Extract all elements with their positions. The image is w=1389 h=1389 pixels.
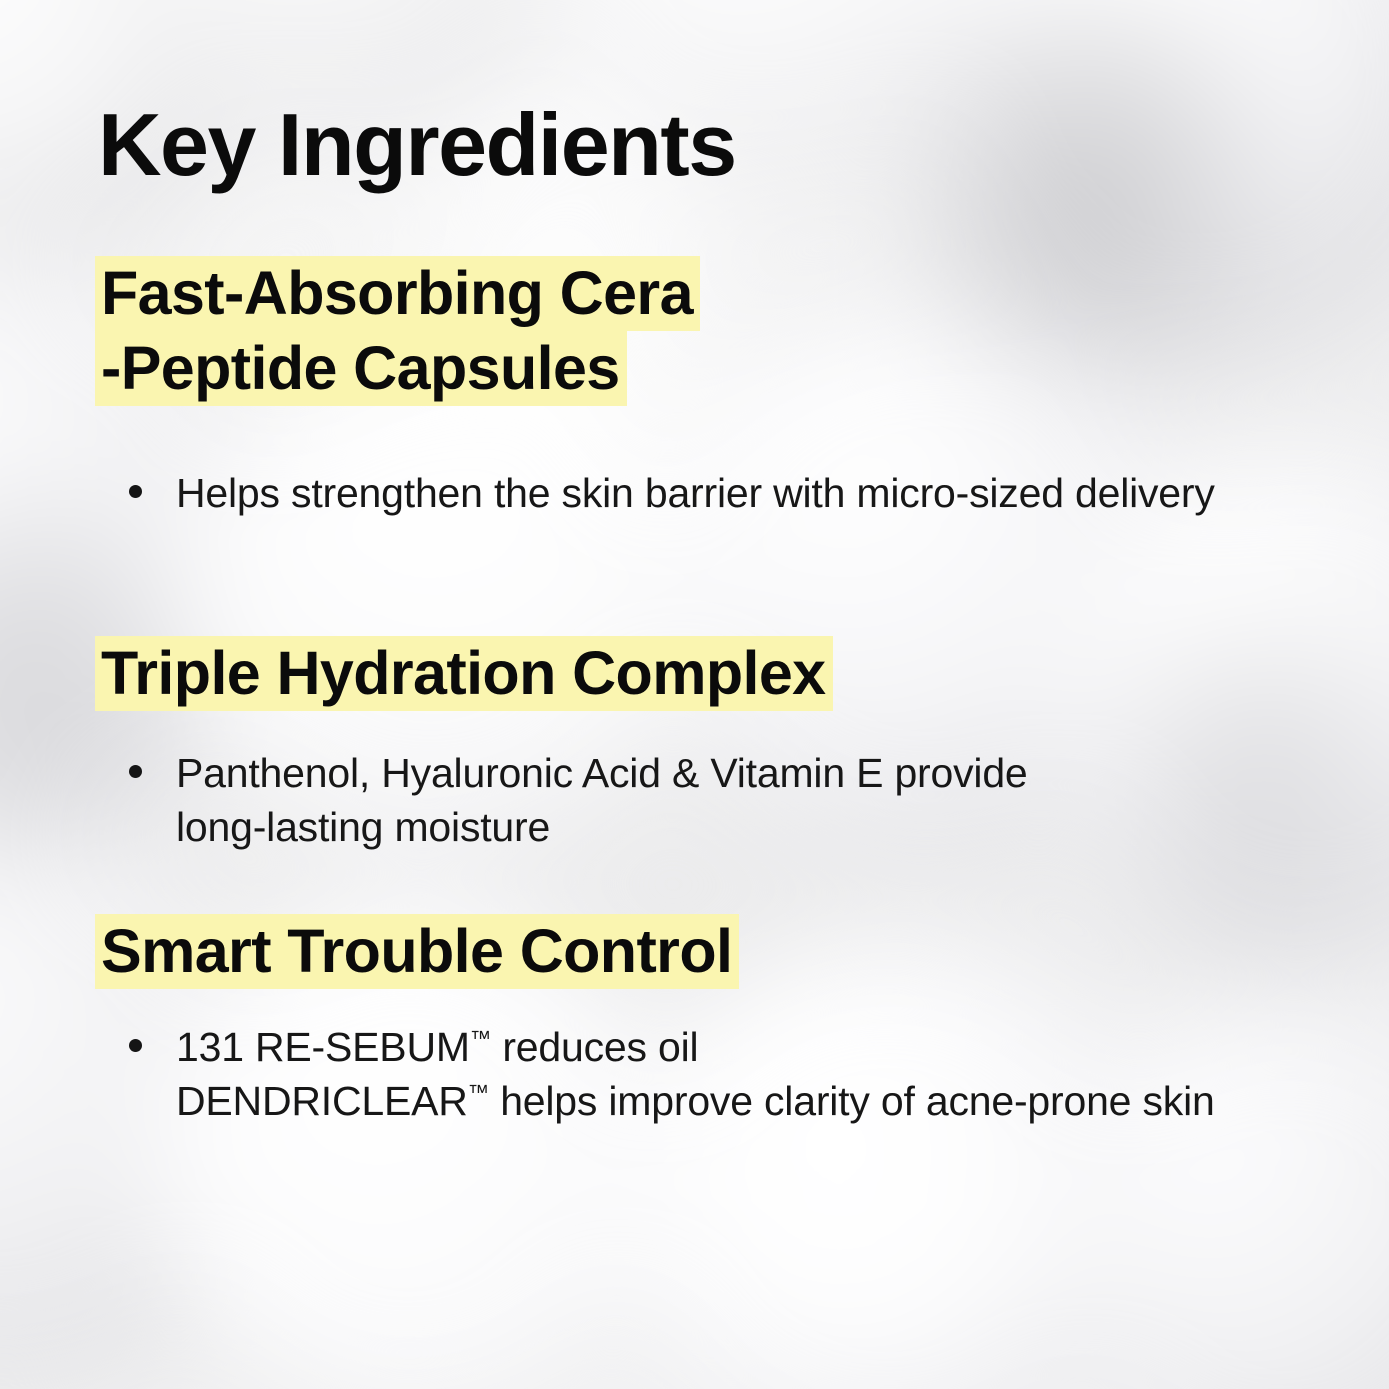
- page-title: Key Ingredients: [98, 101, 736, 189]
- list-item: 131 RE-SEBUM™ reduces oilDENDRICLEAR™ he…: [127, 1020, 1316, 1128]
- section-2-heading: Triple Hydration Complex: [0, 636, 1389, 711]
- ingredient-info-card: Key Ingredients Fast-Absorbing Cera -Pep…: [0, 0, 1389, 1389]
- ingredient-section-2-body: Panthenol, Hyaluronic Acid & Vitamin E p…: [0, 746, 1389, 854]
- list-item-text: 131 RE-SEBUM™ reduces oilDENDRICLEAR™ he…: [176, 1024, 1215, 1124]
- ingredient-section-1-body: Helps strengthen the skin barrier with m…: [0, 466, 1389, 520]
- ingredient-section-3-body: 131 RE-SEBUM™ reduces oilDENDRICLEAR™ he…: [0, 1020, 1389, 1128]
- section-heading-line: -Peptide Capsules: [95, 331, 627, 406]
- ingredient-section-3: Smart Trouble Control: [0, 914, 1389, 989]
- bullet-icon: [129, 765, 142, 778]
- list-item-text: Panthenol, Hyaluronic Acid & Vitamin E p…: [176, 750, 1028, 850]
- section-1-heading: Fast-Absorbing Cera -Peptide Capsules: [0, 256, 1389, 406]
- trademark-icon: ™: [468, 1081, 489, 1105]
- section-3-heading: Smart Trouble Control: [0, 914, 1389, 989]
- section-heading-line: Smart Trouble Control: [95, 914, 739, 989]
- ingredient-section-1: Fast-Absorbing Cera -Peptide Capsules: [0, 256, 1389, 406]
- card-content: Key Ingredients Fast-Absorbing Cera -Pep…: [0, 0, 1389, 1389]
- trademark-icon: ™: [470, 1027, 491, 1051]
- section-heading-line: Fast-Absorbing Cera: [95, 256, 700, 331]
- bullet-icon: [129, 1039, 142, 1052]
- list-item: Helps strengthen the skin barrier with m…: [127, 466, 1306, 520]
- ingredient-section-2: Triple Hydration Complex: [0, 636, 1389, 711]
- list-item-text: Helps strengthen the skin barrier with m…: [176, 470, 1215, 516]
- list-item: Panthenol, Hyaluronic Acid & Vitamin E p…: [127, 746, 1126, 854]
- bullet-icon: [129, 485, 142, 498]
- section-heading-line: Triple Hydration Complex: [95, 636, 833, 711]
